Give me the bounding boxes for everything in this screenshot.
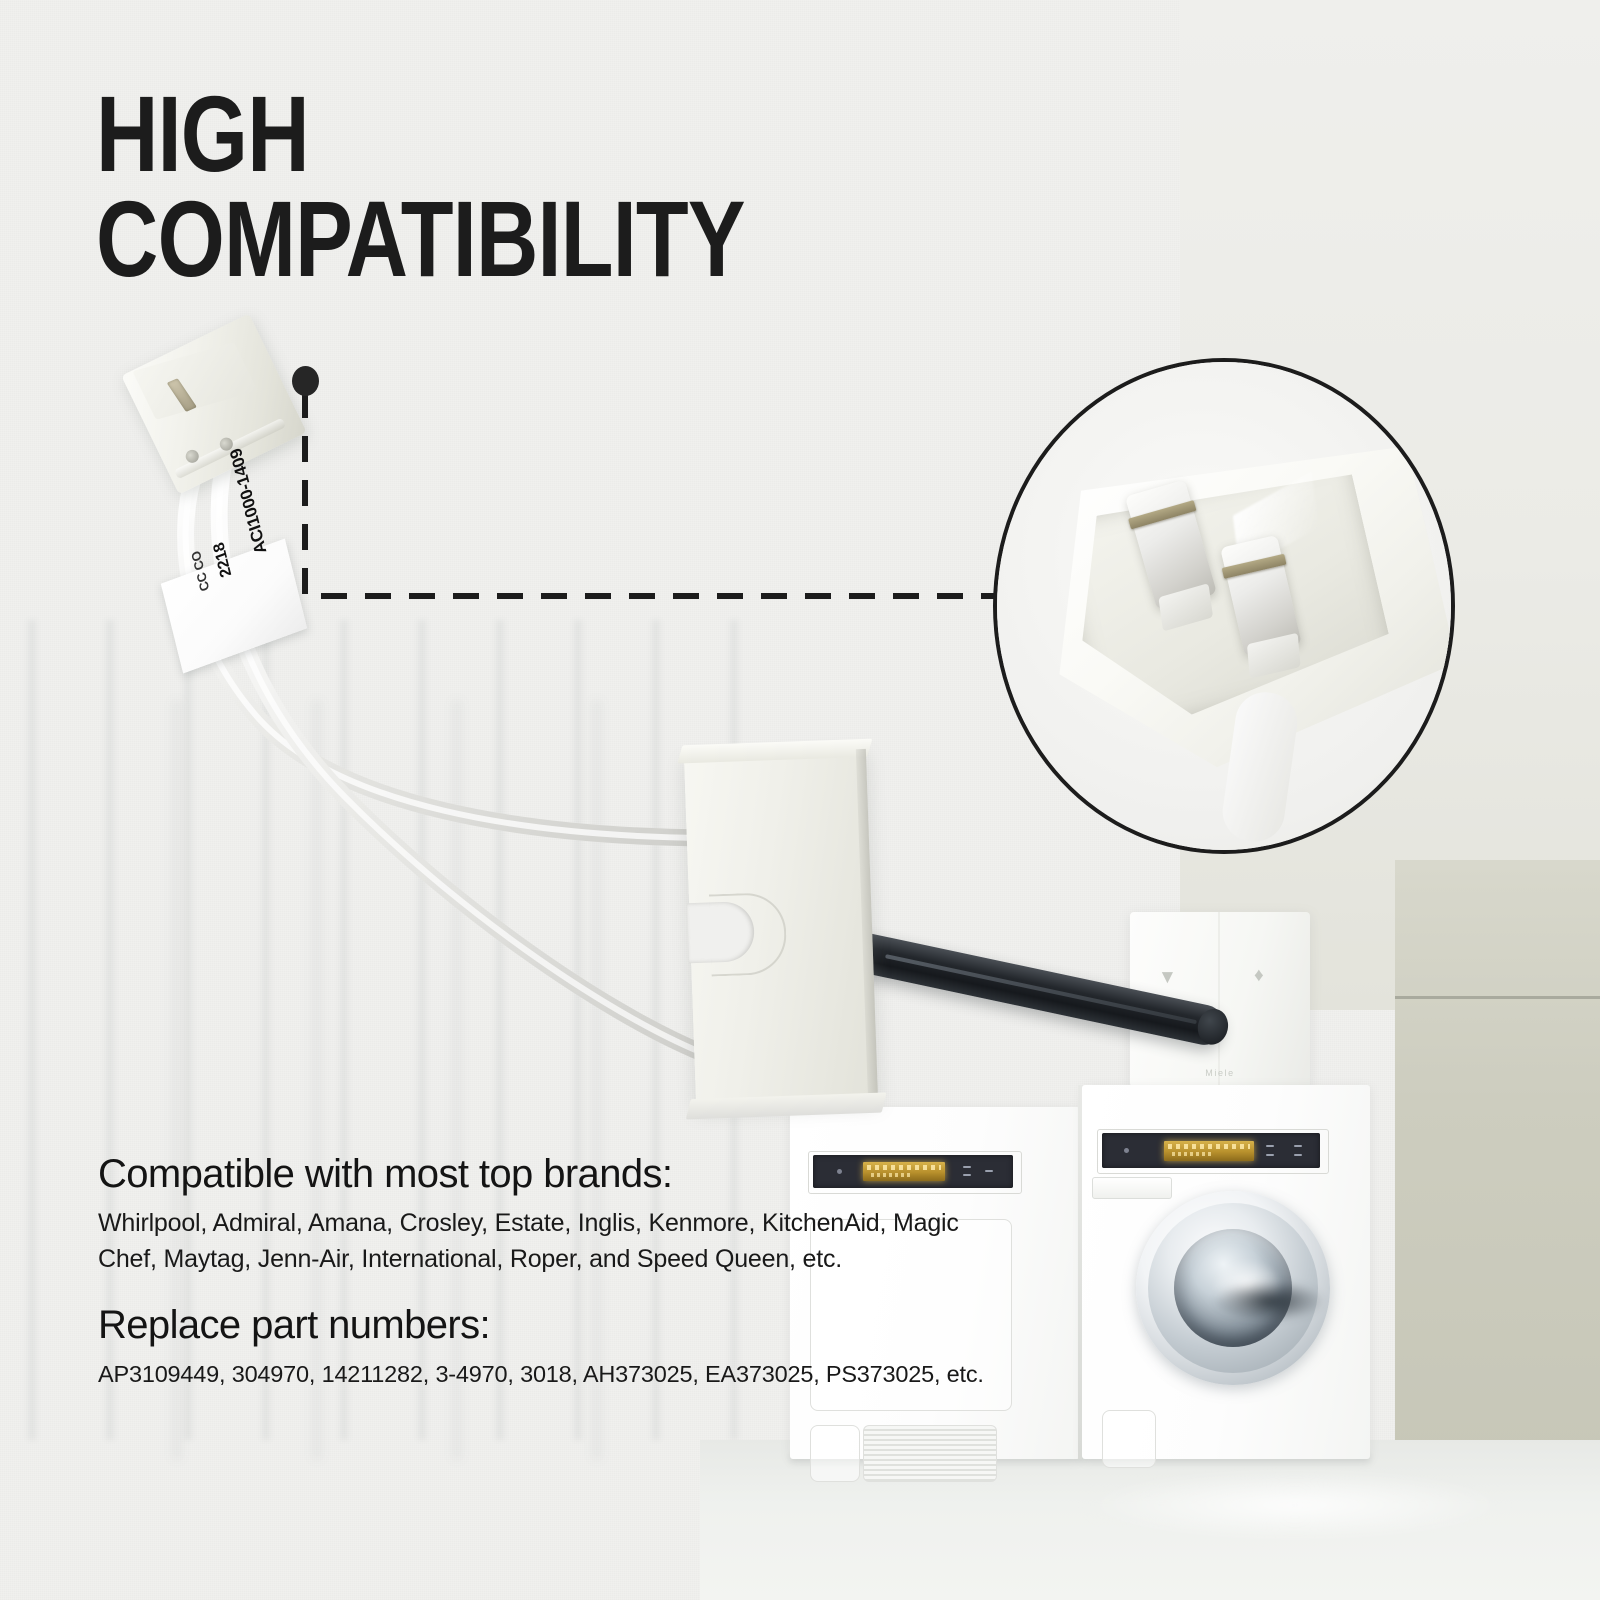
washer-drum-shadow <box>1214 1281 1324 1321</box>
terminal-1-crimp-band <box>1128 500 1196 529</box>
washer-door[interactable] <box>1136 1191 1330 1385</box>
compatibility-copy-block: Compatible with most top brands: Whirlpo… <box>98 1152 998 1392</box>
part-numbers-text: AP3109449, 304970, 14211282, 3-4970, 301… <box>98 1357 998 1392</box>
detail-connector-cavity <box>1056 458 1397 735</box>
dryer-lint-vent[interactable] <box>863 1425 997 1482</box>
product-infographic: ▼ ♦ Miele <box>0 0 1600 1600</box>
washer-control-panel <box>1102 1133 1320 1168</box>
compatibility-heading: Compatible with most top brands: <box>98 1152 998 1196</box>
page-title: HIGH COMPATIBILITY <box>96 84 1196 289</box>
shirt-icon: ▼ <box>1158 968 1177 987</box>
igniter-ceramic-bracket <box>684 749 878 1107</box>
appliance-seam <box>1078 1085 1082 1459</box>
washer-button[interactable] <box>1266 1145 1274 1147</box>
washer-door-ring <box>1148 1203 1318 1373</box>
dryer-lower-panel <box>810 1425 860 1482</box>
part-numbers-heading: Replace part numbers: <box>98 1303 998 1347</box>
droplet-icon: ♦ <box>1254 966 1264 985</box>
headline-line-2: COMPATIBILITY <box>96 189 976 288</box>
washer-door-glass <box>1174 1229 1292 1347</box>
bracket-slot-outline <box>709 892 788 977</box>
background-wall-green <box>1395 860 1600 1460</box>
washer-display <box>1164 1141 1254 1161</box>
dispenser-divider <box>1218 912 1220 1087</box>
callout-anchor-dot <box>292 366 319 396</box>
magnified-connector-detail <box>993 358 1455 854</box>
washer-display-segments-row2 <box>1172 1152 1212 1156</box>
washer-filter-flap[interactable] <box>1102 1410 1156 1468</box>
washer-indicator-light[interactable] <box>1124 1148 1129 1153</box>
detergent-drawer-handle[interactable] <box>1092 1177 1172 1199</box>
connector-pin <box>167 378 197 412</box>
washer-display-segments <box>1168 1144 1250 1149</box>
background-floor-reflection <box>1080 1470 1510 1540</box>
washer-button-3[interactable] <box>1294 1145 1302 1147</box>
headline-line-1: HIGH <box>96 84 976 183</box>
compatibility-brands-text: Whirlpool, Admiral, Amana, Crosley, Esta… <box>98 1206 998 1277</box>
background-wall-seam <box>1395 996 1600 999</box>
terminal-2-crimp-band <box>1222 554 1287 579</box>
dispenser-brand-label: Miele <box>1205 1068 1235 1078</box>
washer-unit <box>1082 1085 1370 1459</box>
washer-button-2[interactable] <box>1266 1154 1274 1156</box>
washer-button-4[interactable] <box>1294 1154 1302 1156</box>
